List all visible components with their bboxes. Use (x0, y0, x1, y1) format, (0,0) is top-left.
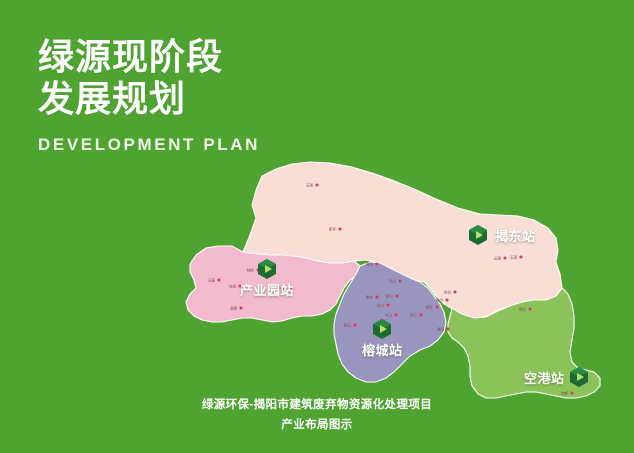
title-block: 绿源现阶段 发展规划 DEVELOPMENT PLAN (38, 36, 260, 155)
station-marker-konggang[interactable]: 空港站 (524, 366, 589, 388)
station-marker-jiedong[interactable]: 揭东站 (468, 224, 536, 246)
location-pin-icon (257, 258, 277, 280)
svg-text:凤山: 凤山 (389, 278, 397, 283)
svg-text:登岗: 登岗 (436, 297, 444, 302)
svg-text:玉滘: 玉滘 (510, 254, 518, 259)
title-line-2: 发展规划 (38, 78, 260, 120)
location-pin-icon (468, 224, 488, 246)
svg-text:新兴: 新兴 (386, 293, 394, 298)
svg-text:锡场: 锡场 (366, 261, 374, 266)
station-marker-chanyeyuan[interactable]: 产业园站 (240, 258, 294, 299)
svg-text:登岗: 登岗 (519, 306, 527, 311)
station-marker-rongcheng[interactable]: 榕城站 (362, 318, 403, 359)
svg-text:新亨: 新亨 (329, 226, 337, 231)
svg-text:东山: 东山 (377, 302, 385, 307)
caption-line-2: 产业布局图示 (0, 415, 634, 435)
station-label-rongcheng: 榕城站 (362, 340, 403, 359)
svg-text:玉窖: 玉窖 (208, 277, 216, 282)
station-label-konggang: 空港站 (524, 368, 565, 387)
svg-text:玉湖: 玉湖 (306, 182, 314, 187)
svg-text:中山: 中山 (385, 312, 393, 317)
title-line-1: 绿源现阶段 (38, 36, 260, 78)
location-pin-icon (569, 366, 589, 388)
svg-text:白塔: 白塔 (229, 283, 237, 288)
location-pin-icon (372, 318, 392, 340)
svg-text:龙尾: 龙尾 (230, 305, 238, 310)
station-label-chanyeyuan: 产业园站 (240, 280, 294, 299)
svg-text:磐东: 磐东 (366, 294, 374, 299)
station-label-jiedong: 揭东站 (495, 226, 536, 245)
svg-text:炮台: 炮台 (444, 289, 452, 294)
subtitle: DEVELOPMENT PLAN (38, 135, 260, 155)
svg-text:渔湖: 渔湖 (437, 326, 445, 331)
caption-block: 绿源环保-揭阳市建筑废弃物资源化处理项目 产业布局图示 (0, 395, 634, 435)
caption-line-1: 绿源环保-揭阳市建筑废弃物资源化处理项目 (0, 395, 634, 415)
svg-text:云路: 云路 (494, 255, 502, 260)
svg-text:榕华: 榕华 (426, 304, 434, 309)
svg-text:西马: 西马 (410, 312, 418, 317)
svg-text:梅云: 梅云 (344, 322, 352, 327)
poster-root: 玉湖新亨锡场桂岭白塔玉窖龙尾月城云路玉滘炮台登岗凤山磐东新兴东山中山榕华西马梅云… (0, 0, 634, 453)
